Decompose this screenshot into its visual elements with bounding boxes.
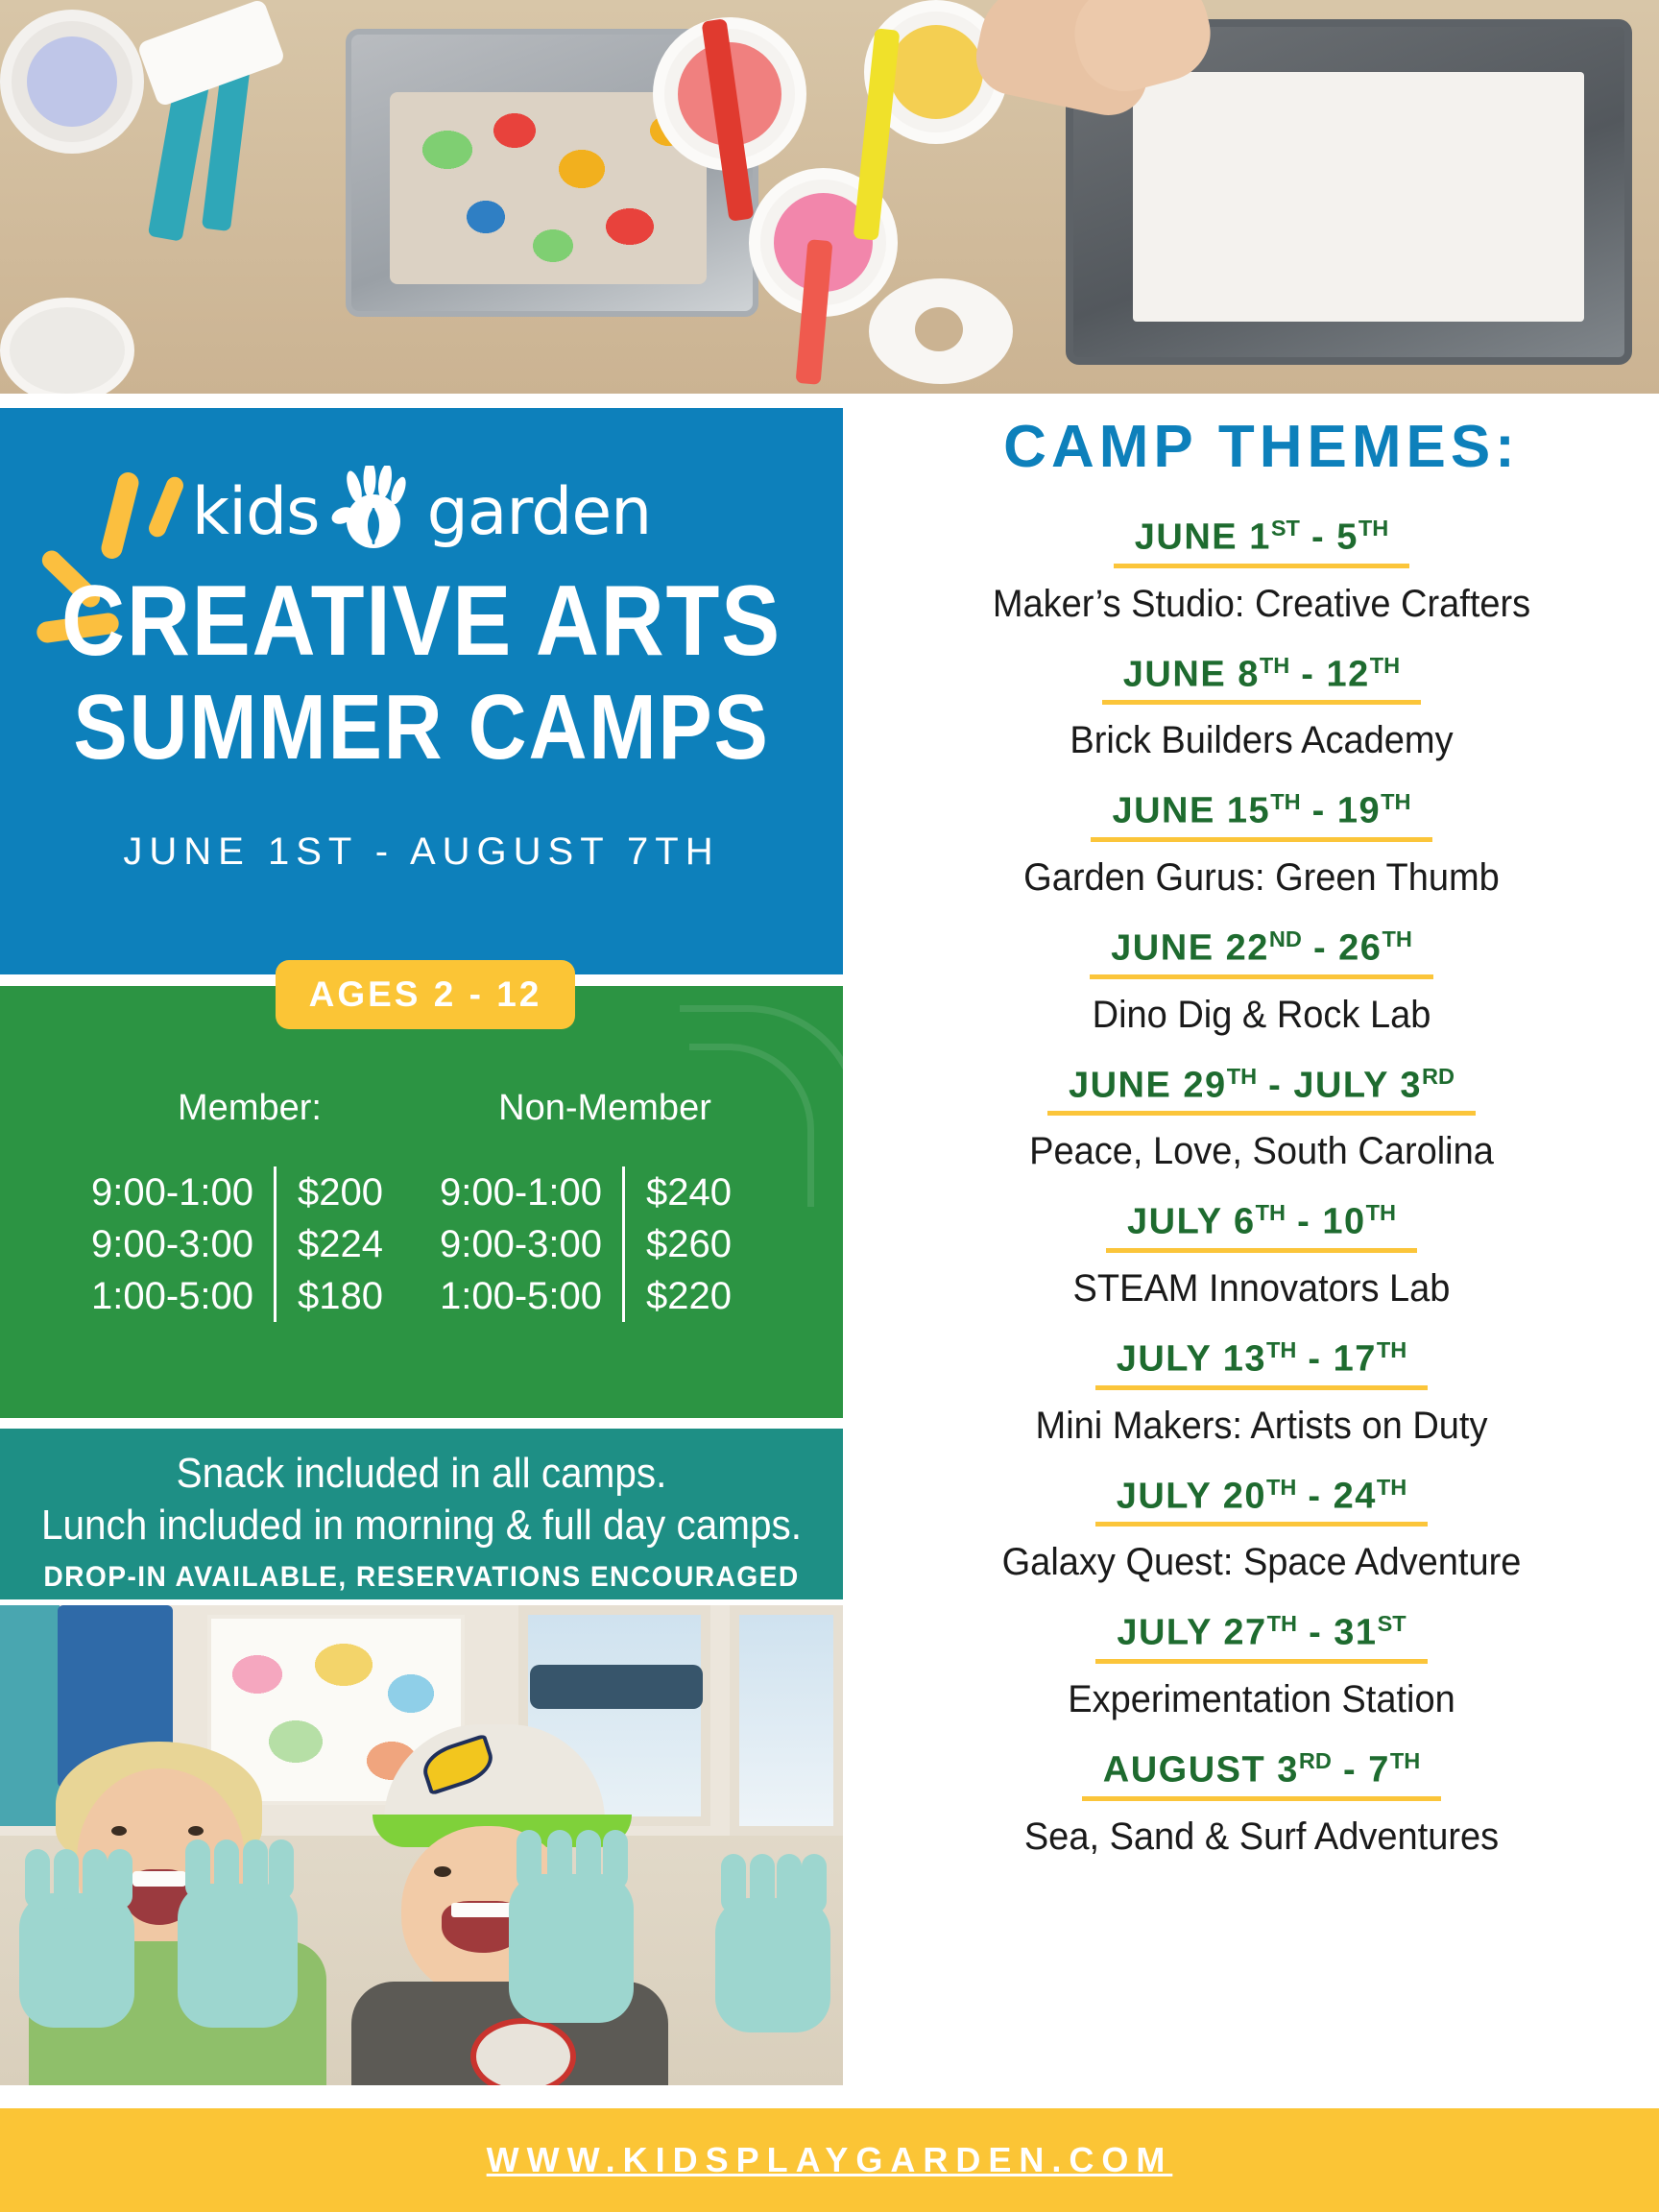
table-cell: $224 [298,1218,403,1270]
theme-item: JULY 27TH - 31ST Experimentation Station [864,1611,1659,1721]
theme-date-sup1: TH [1256,1200,1286,1225]
painted-hand-4 [715,1898,830,2032]
theme-date-sup2: ST [1378,1611,1407,1636]
table-cell: 9:00-3:00 [91,1218,274,1270]
logo-word-kids: kids [192,474,320,550]
member-column-header: Member: [106,1088,394,1129]
theme-date-sup1: ST [1271,516,1300,541]
theme-date: JULY 6TH - 10TH [1106,1200,1417,1253]
theme-name: STEAM Innovators Lab [884,1267,1640,1310]
theme-date-sup1: TH [1227,1064,1257,1089]
child-left-eye-right [188,1826,204,1836]
painted-hand-2 [178,1884,298,2028]
theme-item: AUGUST 3RD - 7TH Sea, Sand & Surf Advent… [864,1748,1659,1859]
kids-photo-painted-hands [0,1605,843,2085]
theme-date-main: JUNE 29 [1069,1065,1227,1105]
theme-date: JUNE 29TH - JULY 3RD [1047,1064,1476,1117]
page-title: CREATIVE ARTS [51,571,793,671]
page-subtitle: SUMMER CAMPS [51,682,793,774]
theme-date: JUNE 15TH - 19TH [1091,789,1431,842]
theme-date-sup2: TH [1377,1475,1407,1500]
theme-date-sup2: TH [1358,516,1388,541]
dropin-note: DROP-IN AVAILABLE, RESERVATIONS ENCOURAG… [25,1561,817,1594]
theme-date-main: JUNE 8 [1123,654,1260,694]
theme-item: JUNE 8TH - 12TH Brick Builders Academy [864,653,1659,763]
plastic-ring [869,278,1013,384]
theme-date-sep: - JULY 3 [1257,1065,1422,1105]
theme-date-main: JUNE 22 [1111,928,1269,969]
theme-item: JUNE 22ND - 26TH Dino Dig & Rock Lab [864,926,1659,1037]
table-cell: $240 [646,1166,752,1218]
theme-date: AUGUST 3RD - 7TH [1082,1748,1441,1801]
table-cell: 1:00-5:00 [91,1270,274,1322]
theme-date-sep: - 7 [1332,1750,1390,1791]
theme-name: Sea, Sand & Surf Adventures [884,1815,1640,1859]
theme-name: Dino Dig & Rock Lab [884,994,1640,1037]
theme-date-sup2: RD [1422,1064,1455,1089]
theme-date-sup1: ND [1269,926,1302,951]
theme-date-sup2: TH [1382,926,1411,951]
theme-item: JUNE 29TH - JULY 3RD Peace, Love, South … [864,1064,1659,1174]
theme-date-sep: - 10 [1286,1202,1366,1242]
includes-panel: Snack included in all camps. Lunch inclu… [0,1429,843,1599]
nonmember-column-header: Non-Member [451,1088,758,1129]
theme-name: Brick Builders Academy [884,719,1640,762]
child-left-eye-left [111,1826,127,1836]
theme-name: Maker’s Studio: Creative Crafters [884,583,1640,626]
theme-date: JULY 13TH - 17TH [1095,1337,1429,1390]
table-cell: 9:00-1:00 [440,1166,622,1218]
paint-splatter-paper [1133,72,1584,322]
table-cell: 9:00-3:00 [440,1218,622,1270]
member-price-table: 9:00-1:00 9:00-3:00 1:00-5:00 $200 $224 … [91,1166,403,1322]
theme-date-sep: - 26 [1302,928,1382,969]
theme-date-main: JULY 20 [1117,1476,1266,1516]
brand-logo: kids garden [0,466,843,558]
snack-note: Snack included in all camps. [34,1450,809,1498]
theme-item: JUNE 15TH - 19TH Garden Gurus: Green Thu… [864,789,1659,900]
painted-hand-3 [509,1874,634,2023]
theme-item: JULY 13TH - 17TH Mini Makers: Artists on… [864,1337,1659,1448]
theme-name: Galaxy Quest: Space Adventure [884,1541,1640,1584]
theme-date-sep: - 5 [1300,517,1358,558]
window-right [730,1605,843,1836]
camp-date-range: JUNE 1ST - AUGUST 7TH [0,830,843,874]
table-cell: $220 [646,1270,752,1322]
theme-date-main: JULY 13 [1117,1339,1266,1380]
theme-date: JULY 20TH - 24TH [1095,1475,1429,1527]
nonmember-prices-column: $240 $260 $220 [622,1166,752,1322]
table-cell: $260 [646,1218,752,1270]
paint-cup-white [0,298,134,394]
theme-date-sep: - 19 [1301,791,1382,831]
theme-date-sup1: RD [1299,1748,1332,1773]
theme-date-sup1: TH [1266,1337,1296,1362]
table-cell: 1:00-5:00 [440,1270,622,1322]
painted-hand-1 [19,1893,134,2028]
theme-date-sep: - 12 [1289,654,1370,694]
ages-badge: AGES 2 - 12 [276,960,575,1029]
member-times-column: 9:00-1:00 9:00-3:00 1:00-5:00 [91,1166,274,1322]
hero-photo-craft-table [0,0,1659,394]
theme-date-sup1: TH [1267,1611,1297,1636]
theme-date: JULY 27TH - 31ST [1095,1611,1427,1664]
blue-header-panel: kids garden CREATIVE ARTS SUMMER CAMPS [0,408,843,974]
table-cell: 9:00-1:00 [91,1166,274,1218]
theme-name: Peace, Love, South Carolina [884,1130,1640,1173]
website-url-link[interactable]: WWW.KIDSPLAYGARDEN.COM [487,2140,1173,2180]
theme-date-sup2: TH [1390,1748,1420,1773]
child-right-eye-left [434,1866,451,1877]
theme-item: JULY 6TH - 10TH STEAM Innovators Lab [864,1200,1659,1310]
theme-date-main: JULY 27 [1117,1613,1266,1653]
theme-name: Mini Makers: Artists on Duty [884,1405,1640,1448]
theme-date-main: JUNE 1 [1135,517,1271,558]
theme-item: JULY 20TH - 24TH Galaxy Quest: Space Adv… [864,1475,1659,1585]
theme-date-sep: - 24 [1296,1476,1377,1516]
footer-bar: WWW.KIDSPLAYGARDEN.COM [0,2108,1659,2212]
table-cell: $180 [298,1270,403,1322]
theme-name: Garden Gurus: Green Thumb [884,856,1640,900]
paint-cup-purple [0,10,144,154]
theme-date: JUNE 8TH - 12TH [1102,653,1421,706]
theme-date-sup2: TH [1377,1337,1407,1362]
theme-date-sup2: TH [1381,789,1410,814]
nonmember-price-table: 9:00-1:00 9:00-3:00 1:00-5:00 $240 $260 … [440,1166,752,1322]
logo-word-garden: garden [427,474,652,550]
nonmember-times-column: 9:00-1:00 9:00-3:00 1:00-5:00 [440,1166,622,1322]
paintbrush-yellow [854,28,901,241]
spatula [136,0,285,108]
lunch-note: Lunch included in morning & full day cam… [34,1502,809,1550]
theme-date-sep: - 31 [1297,1613,1378,1653]
theme-date-sep: - 17 [1296,1339,1377,1380]
pricing-table: 9:00-1:00 9:00-3:00 1:00-5:00 $200 $224 … [0,1166,843,1322]
theme-date-sup1: TH [1260,653,1289,678]
shirt-graphic [470,2018,576,2085]
theme-date: JUNE 22ND - 26TH [1090,926,1433,979]
theme-date-main: AUGUST 3 [1103,1750,1299,1791]
theme-name: Experimentation Station [884,1678,1640,1721]
member-prices-column: $200 $224 $180 [274,1166,403,1322]
theme-date: JUNE 1ST - 5TH [1114,516,1409,568]
theme-date-sup1: TH [1270,789,1300,814]
theme-date-sup1: TH [1266,1475,1296,1500]
camp-themes-heading: CAMP THEMES: [864,413,1659,481]
table-cell: $200 [298,1166,403,1218]
theme-date-main: JULY 6 [1127,1202,1256,1242]
theme-date-sup2: TH [1366,1200,1396,1225]
theme-date-sup2: TH [1370,653,1400,678]
car-outside [530,1665,703,1709]
theme-item: JUNE 1ST - 5TH Maker’s Studio: Creative … [864,516,1659,626]
handprint-leaf-icon [329,466,418,558]
camp-themes-section: CAMP THEMES: JUNE 1ST - 5TH Maker’s Stud… [864,413,1659,1886]
theme-date-main: JUNE 15 [1112,791,1270,831]
